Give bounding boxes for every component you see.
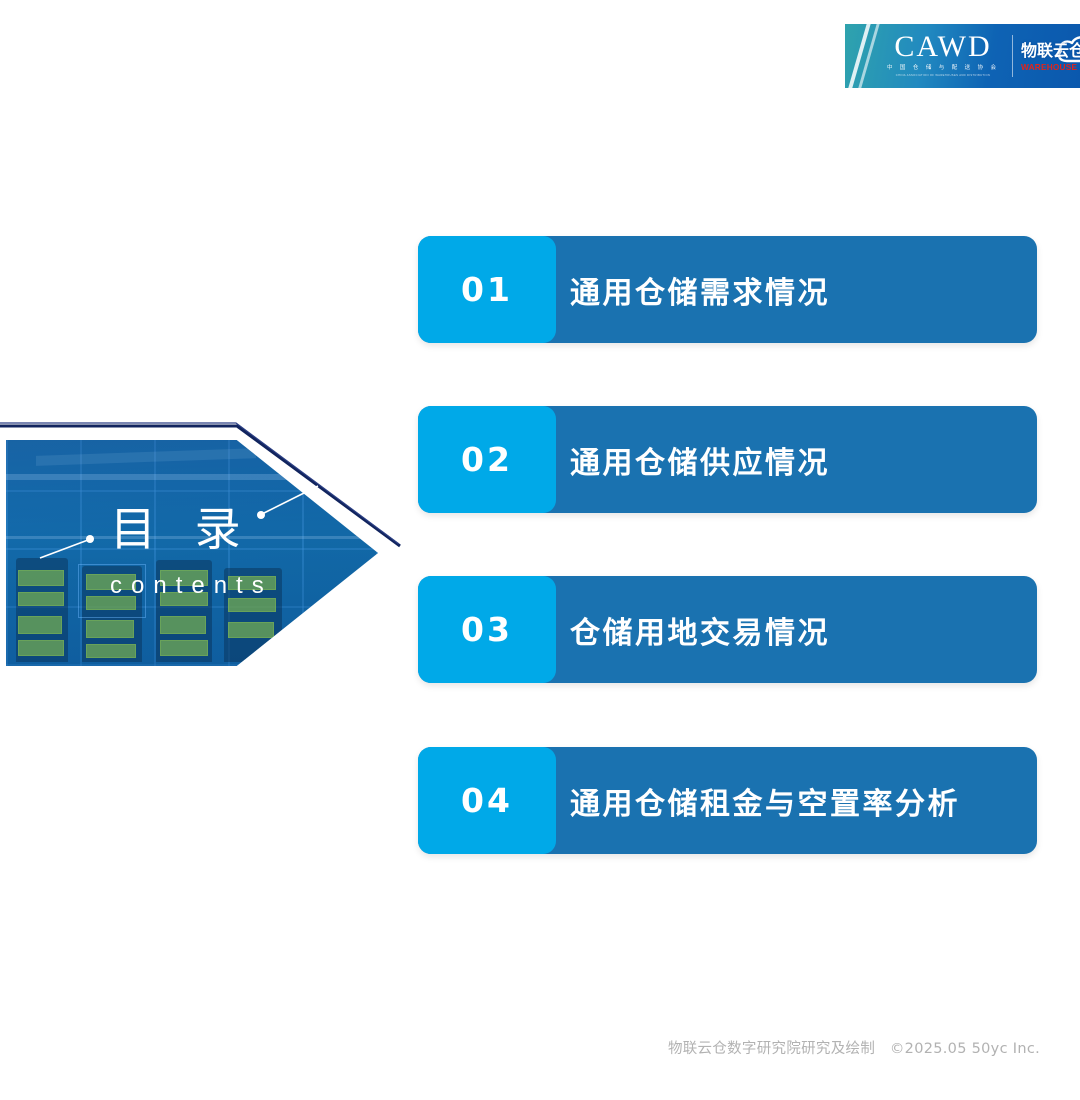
cawd-wordmark: CAWD: [881, 30, 1005, 64]
cawd-logo: CAWD 中 国 仓 储 与 配 送 协 会 CHINA ASSOCIATION…: [881, 30, 1005, 78]
section-number: 04: [461, 781, 513, 820]
section-card-02[interactable]: 02 通用仓储供应情况: [418, 406, 1037, 513]
contents-title-cn: 目 录: [110, 504, 253, 554]
logo-divider: [1012, 35, 1013, 77]
cawd-chinese-subtitle: 中 国 仓 储 与 配 送 协 会: [886, 64, 1000, 71]
section-card-01[interactable]: 01 通用仓储需求情况: [418, 236, 1037, 343]
section-title: 仓储用地交易情况: [570, 576, 830, 683]
section-title: 通用仓储租金与空置率分析: [570, 747, 960, 854]
section-number-badge: 01: [418, 236, 556, 343]
warehouse-in-cloud-logo: 物联云仓 WAREHOUSE IN CLOUD: [1021, 36, 1080, 80]
slash-mark-icon: [851, 24, 885, 88]
section-number-badge: 02: [418, 406, 556, 513]
section-number: 01: [461, 270, 513, 309]
section-number-badge: 03: [418, 576, 556, 683]
brand-logo-bar: CAWD 中 国 仓 储 与 配 送 协 会 CHINA ASSOCIATION…: [845, 24, 1080, 88]
wic-chinese-name: 物联云仓: [1021, 43, 1080, 61]
section-card-04[interactable]: 04 通用仓储租金与空置率分析: [418, 747, 1037, 854]
cawd-english-subtitle: CHINA ASSOCIATION OF WAREHOUSES AND DIST…: [890, 72, 995, 77]
section-number: 03: [461, 610, 513, 649]
footer-credit: 物联云仓数字研究院研究及绘制 ©2025.05 50yc Inc.: [0, 1037, 1040, 1058]
section-title: 通用仓储供应情况: [570, 406, 830, 513]
section-card-03[interactable]: 03 仓储用地交易情况: [418, 576, 1037, 683]
wic-english-name: WAREHOUSE IN CLOUD: [1021, 62, 1080, 72]
section-number-badge: 04: [418, 747, 556, 854]
section-number: 02: [461, 440, 513, 479]
contents-title-en: contents: [110, 572, 273, 600]
section-title: 通用仓储需求情况: [570, 236, 830, 343]
